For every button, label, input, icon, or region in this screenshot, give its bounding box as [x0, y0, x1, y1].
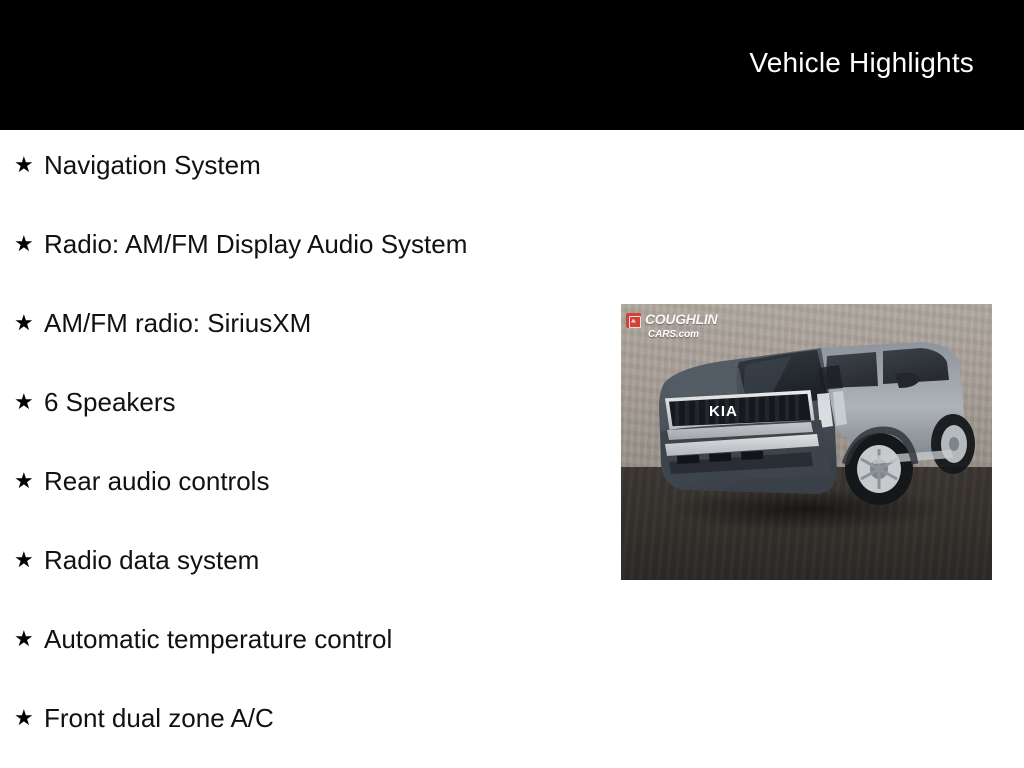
list-item-label: Radio: AM/FM Display Audio System — [44, 231, 467, 257]
star-bullet-icon: ★ — [14, 470, 44, 492]
watermark-sub-text: CARS.com — [648, 329, 699, 340]
list-item-label: AM/FM radio: SiriusXM — [44, 310, 311, 336]
list-item: ★ Radio data system — [0, 547, 600, 626]
list-item: ★ AM/FM radio: SiriusXM — [0, 310, 600, 389]
list-item: ★ Automatic temperature control — [0, 626, 600, 705]
star-bullet-icon: ★ — [14, 707, 44, 729]
list-item: ★ Rear audio controls — [0, 468, 600, 547]
star-bullet-icon: ★ — [14, 233, 44, 255]
star-bullet-icon: ★ — [14, 312, 44, 334]
list-item-label: Rear audio controls — [44, 468, 269, 494]
list-item-label: Automatic temperature control — [44, 626, 392, 652]
watermark-main-text: COUGHLIN — [645, 312, 717, 326]
vehicle-highlights-list: ★ Navigation System ★ Radio: AM/FM Displ… — [0, 130, 600, 768]
list-item: ★ Navigation System — [0, 130, 600, 231]
star-bullet-icon: ★ — [14, 391, 44, 413]
list-item-label: Front dual zone A/C — [44, 705, 274, 731]
star-bullet-icon: ★ — [14, 628, 44, 650]
kia-telluride-illustration: KIA — [621, 304, 992, 580]
star-bullet-icon: ★ — [14, 549, 44, 571]
vehicle-highlights-page: Vehicle Highlights ★ Navigation System ★… — [0, 0, 1024, 768]
list-item: ★ 6 Speakers — [0, 389, 600, 468]
star-bullet-icon: ★ — [14, 154, 44, 176]
svg-text:KIA: KIA — [709, 403, 738, 420]
vehicle-photo: KIA — [621, 304, 992, 580]
header-bar: Vehicle Highlights — [0, 0, 1024, 130]
dealer-watermark: COUGHLIN — [626, 312, 717, 328]
page-title: Vehicle Highlights — [749, 49, 974, 77]
list-item-label: 6 Speakers — [44, 389, 176, 415]
list-item-label: Navigation System — [44, 152, 261, 178]
watermark-text: COUGHLIN — [645, 312, 717, 326]
list-item: ★ Radio: AM/FM Display Audio System — [0, 231, 600, 310]
list-item: ★ Front dual zone A/C — [0, 705, 600, 768]
coughlin-logo-icon — [626, 313, 641, 328]
list-item-label: Radio data system — [44, 547, 259, 573]
